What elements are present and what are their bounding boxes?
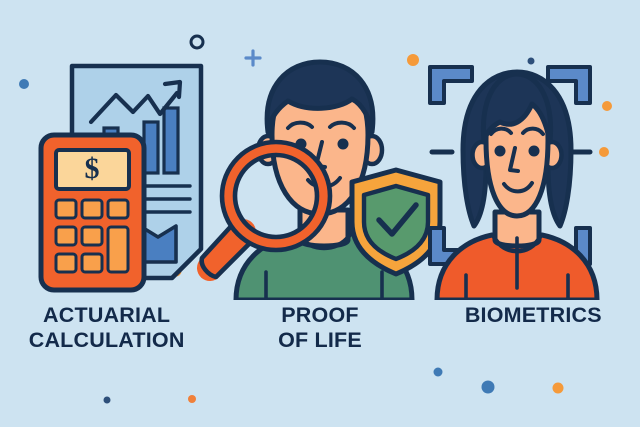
orange-dot-decor xyxy=(599,147,609,157)
calculator-key xyxy=(82,200,102,218)
calculator-key-tall xyxy=(108,227,128,272)
calculator-display-value: $ xyxy=(85,152,100,185)
calculator-icon: $ xyxy=(41,135,144,290)
calculator-key xyxy=(82,254,102,272)
bar xyxy=(164,108,178,173)
lower-background-strip xyxy=(0,300,640,427)
orange-dot-decor xyxy=(407,54,419,66)
calculator-key xyxy=(108,200,128,218)
female-eye-left xyxy=(495,146,506,157)
blue-dot-decor xyxy=(104,397,111,404)
blue-dot-decor xyxy=(19,79,29,89)
calculator-key xyxy=(56,254,76,272)
female-eye-right xyxy=(529,146,540,157)
calculator-key xyxy=(56,200,76,218)
orange-dot-decor xyxy=(188,395,196,403)
calculator-key xyxy=(82,227,102,245)
infographic-canvas: $ xyxy=(0,0,640,427)
orange-dot-decor xyxy=(602,101,612,111)
blue-dot-decor xyxy=(482,381,495,394)
illustration-artwork: $ xyxy=(0,0,640,427)
calculator-key xyxy=(56,227,76,245)
blue-dot-decor xyxy=(528,58,535,65)
male-eye-right xyxy=(338,139,349,150)
orange-dot-decor xyxy=(553,383,564,394)
calculator-keypad xyxy=(56,200,128,272)
blue-dot-decor xyxy=(434,368,443,377)
shield-inner xyxy=(364,186,428,259)
